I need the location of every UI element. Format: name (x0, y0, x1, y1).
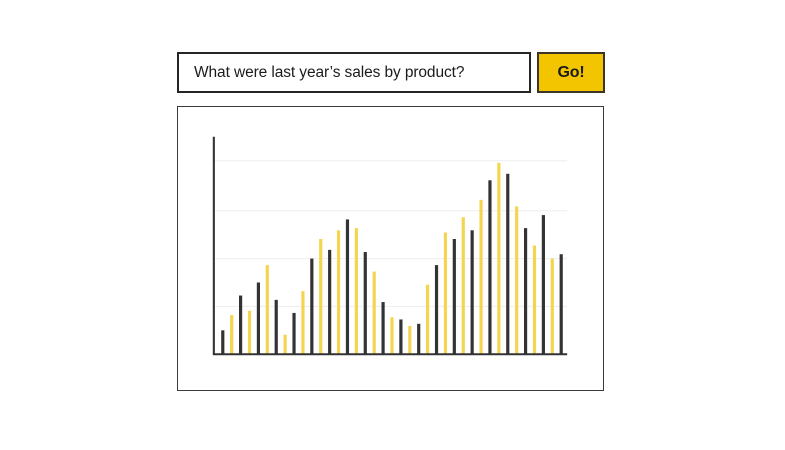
go-button[interactable]: Go! (537, 52, 605, 93)
bar[interactable] (444, 232, 447, 354)
bar[interactable] (230, 315, 233, 354)
bar[interactable] (310, 259, 313, 355)
bar[interactable] (560, 254, 563, 354)
bar[interactable] (426, 285, 429, 355)
bar[interactable] (301, 291, 304, 354)
bar[interactable] (515, 206, 518, 354)
bar[interactable] (399, 319, 402, 354)
bar[interactable] (542, 215, 545, 354)
bar[interactable] (328, 250, 331, 354)
bar[interactable] (453, 239, 456, 354)
bar[interactable] (506, 174, 509, 354)
bar[interactable] (239, 296, 242, 355)
bar[interactable] (533, 246, 536, 355)
bar[interactable] (284, 335, 287, 355)
bar[interactable] (275, 300, 278, 354)
query-bar: Go! (177, 52, 605, 93)
bar[interactable] (488, 180, 491, 354)
bar[interactable] (408, 326, 411, 354)
bar[interactable] (319, 239, 322, 354)
bar[interactable] (221, 330, 224, 354)
bar[interactable] (292, 313, 295, 354)
bar[interactable] (435, 265, 438, 354)
bar[interactable] (266, 265, 269, 354)
bar[interactable] (497, 163, 500, 354)
bar-chart-svg (178, 107, 603, 390)
bar[interactable] (364, 252, 367, 354)
bar[interactable] (390, 317, 393, 354)
bar-chart (178, 107, 603, 390)
bar[interactable] (417, 324, 420, 354)
bar[interactable] (381, 302, 384, 354)
bar[interactable] (462, 217, 465, 354)
app-canvas: Go! (0, 0, 785, 450)
bar[interactable] (373, 272, 376, 355)
bar[interactable] (346, 219, 349, 354)
bar[interactable] (248, 311, 251, 354)
bar[interactable] (524, 228, 527, 354)
search-input[interactable] (177, 52, 531, 93)
bar[interactable] (337, 230, 340, 354)
bar[interactable] (355, 228, 358, 354)
chart-panel (177, 106, 604, 391)
bar[interactable] (479, 200, 482, 354)
bar[interactable] (551, 259, 554, 355)
bar[interactable] (471, 230, 474, 354)
bar[interactable] (257, 282, 260, 354)
